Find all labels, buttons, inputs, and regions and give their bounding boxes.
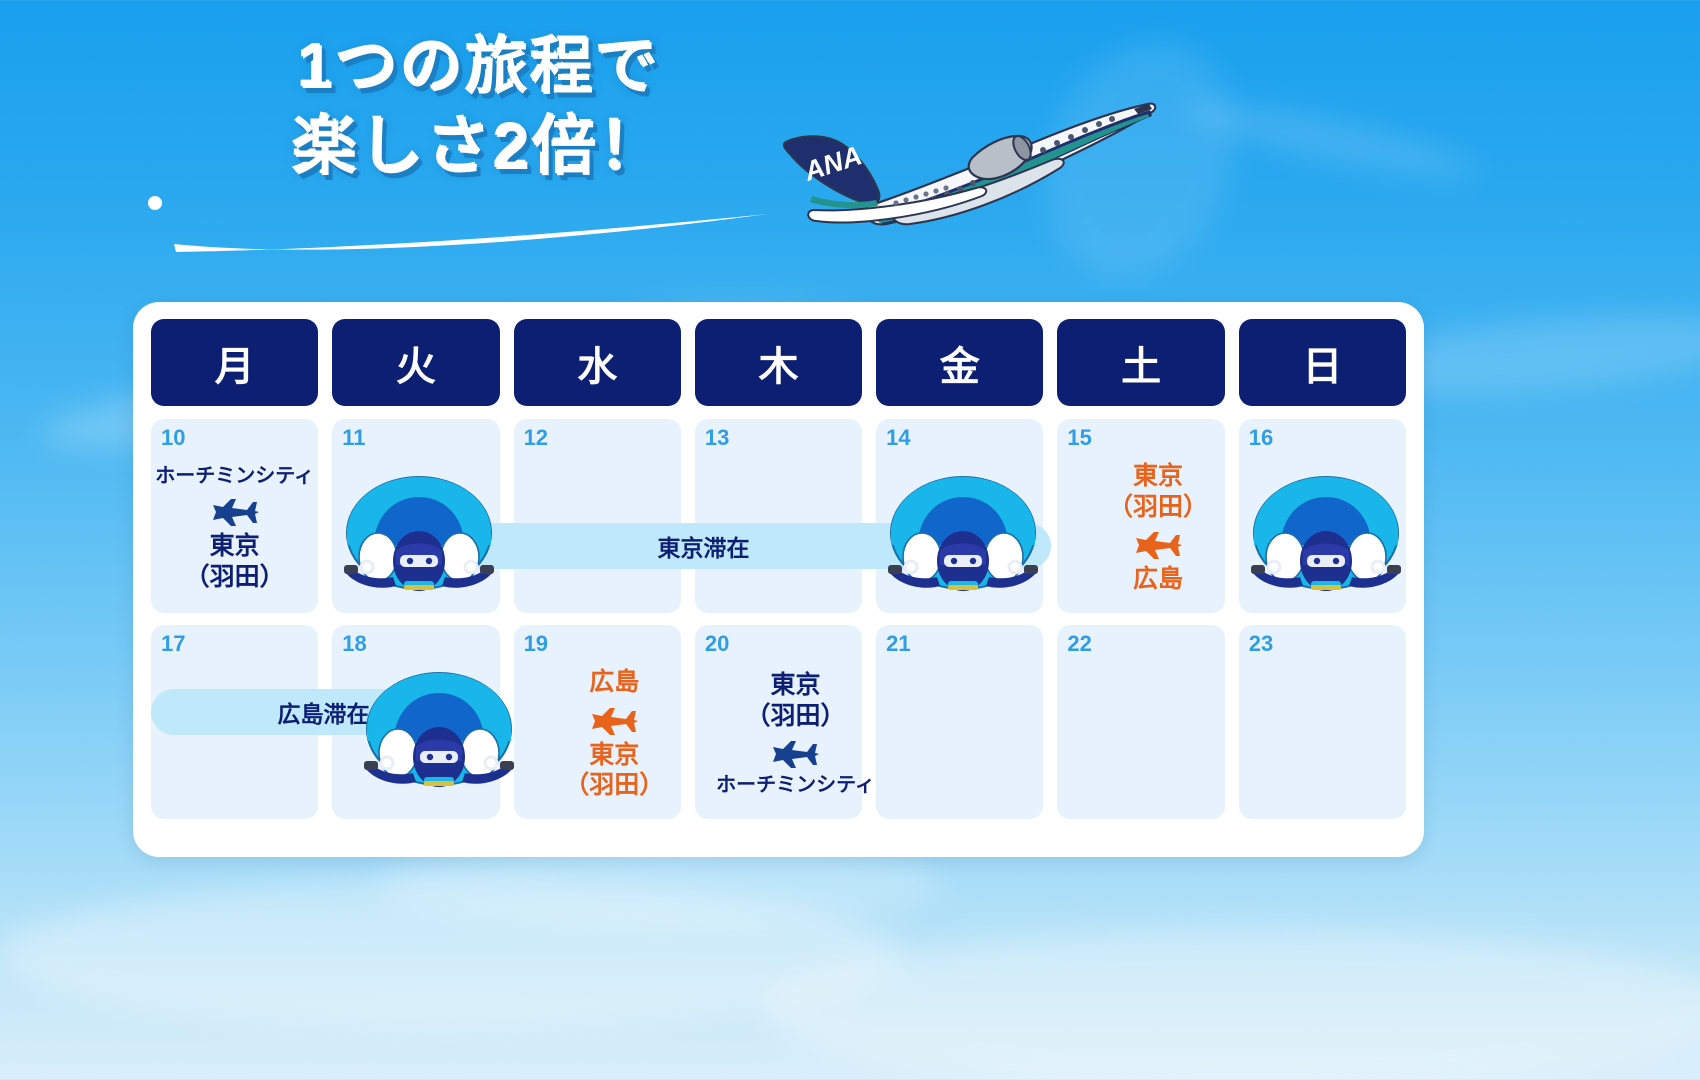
- cell-19-dest-airport: （羽田）: [564, 771, 664, 800]
- weekday-header-fri: 金: [876, 319, 1043, 406]
- day-number-11: 11: [342, 427, 493, 449]
- calendar-cell-15[interactable]: 15 東京 （羽田） 広島: [1057, 419, 1224, 613]
- airplane-icon: [769, 735, 821, 769]
- weekday-header-sat: 土: [1057, 319, 1224, 406]
- stay-banner-hiroshima-label: 広島滞在: [278, 695, 370, 729]
- airplane-icon: [1132, 526, 1184, 560]
- day-number-13: 13: [705, 427, 856, 449]
- calendar-cell-20[interactable]: 20 東京 （羽田） ホーチミンシティ: [695, 625, 862, 819]
- cell-19-dest: 東京: [589, 741, 639, 770]
- calendar-week-row-1: 東京滞在 10 ホーチミンシティ 東京 （羽田） 11: [151, 419, 1406, 613]
- ana-airplane-illustration: ANA: [700, 78, 1170, 248]
- stay-banner-tokyo-label: 東京滞在: [658, 529, 750, 563]
- itinerary-calendar-panel: 月 火 水 木 金 土 日 東京滞在 10 ホーチミンシティ 東京 （羽田） 1…: [133, 302, 1424, 857]
- calendar-cell-14[interactable]: 14: [876, 419, 1043, 613]
- day-number-14: 14: [886, 427, 1037, 449]
- cell-15-origin-airport: （羽田）: [1108, 493, 1208, 522]
- cell-15-dest: 広島: [1133, 565, 1183, 594]
- cloud-bank: [0, 880, 900, 1030]
- cloud-bank: [760, 930, 1700, 1080]
- weekday-header-thu: 木: [695, 319, 862, 406]
- day-number-20: 20: [705, 633, 856, 655]
- calendar-cell-23[interactable]: 23: [1239, 625, 1406, 819]
- hero-title-line-2: 楽しさ2倍！: [170, 107, 790, 189]
- hero-title-line-1: 1つの旅程で: [170, 28, 790, 107]
- stay-banner-hiroshima: 広島滞在: [151, 689, 496, 735]
- day-number-16: 16: [1249, 427, 1400, 449]
- day-number-22: 22: [1067, 633, 1218, 655]
- day-number-15: 15: [1067, 427, 1218, 449]
- weekday-header-row: 月 火 水 木 金 土 日: [151, 319, 1406, 406]
- stay-banner-tokyo: 東京滞在: [356, 523, 1051, 569]
- weekday-header-tue: 火: [332, 319, 499, 406]
- cloud-wisp: [1179, 89, 1481, 190]
- calendar-cell-12[interactable]: 12: [514, 419, 681, 613]
- calendar-cell-10[interactable]: 10 ホーチミンシティ 東京 （羽田）: [151, 419, 318, 613]
- day-number-18: 18: [342, 633, 493, 655]
- cell-10-origin: ホーチミンシティ: [155, 465, 314, 488]
- day-number-12: 12: [524, 427, 675, 449]
- cell-19-origin: 広島: [589, 668, 639, 697]
- cell-20-origin-airport: （羽田）: [745, 702, 845, 731]
- cell-10-dest: 東京: [210, 532, 260, 561]
- calendar-cell-19[interactable]: 19 広島 東京 （羽田）: [514, 625, 681, 819]
- day-number-10: 10: [161, 427, 312, 449]
- day-number-23: 23: [1249, 633, 1400, 655]
- day-number-21: 21: [886, 633, 1037, 655]
- calendar-week-row-2: 広島滞在 17 18: [151, 625, 1406, 819]
- calendar-cell-16[interactable]: 16: [1239, 419, 1406, 613]
- calendar-cell-22[interactable]: 22: [1057, 625, 1224, 819]
- airplane-icon: [209, 493, 261, 527]
- cell-10-dest-airport: （羽田）: [185, 563, 285, 592]
- skydiver-mascot-icon: [1241, 471, 1411, 596]
- cell-20-dest: ホーチミンシティ: [716, 774, 875, 797]
- weekday-header-wed: 水: [514, 319, 681, 406]
- weekday-header-sun: 日: [1239, 319, 1406, 406]
- day-number-19: 19: [524, 633, 675, 655]
- title-underline-swoosh: [168, 210, 778, 256]
- calendar-cell-21[interactable]: 21: [876, 625, 1043, 819]
- cell-20-origin: 東京: [770, 671, 820, 700]
- hero-title: 1つの旅程で 楽しさ2倍！: [170, 28, 790, 189]
- airplane-icon: [588, 702, 640, 736]
- cell-15-origin: 東京: [1133, 462, 1183, 491]
- calendar-cell-13[interactable]: 13: [695, 419, 862, 613]
- day-number-17: 17: [161, 633, 312, 655]
- title-underline-dot: [148, 196, 162, 210]
- calendar-cell-11[interactable]: 11: [332, 419, 499, 613]
- weekday-header-mon: 月: [151, 319, 318, 406]
